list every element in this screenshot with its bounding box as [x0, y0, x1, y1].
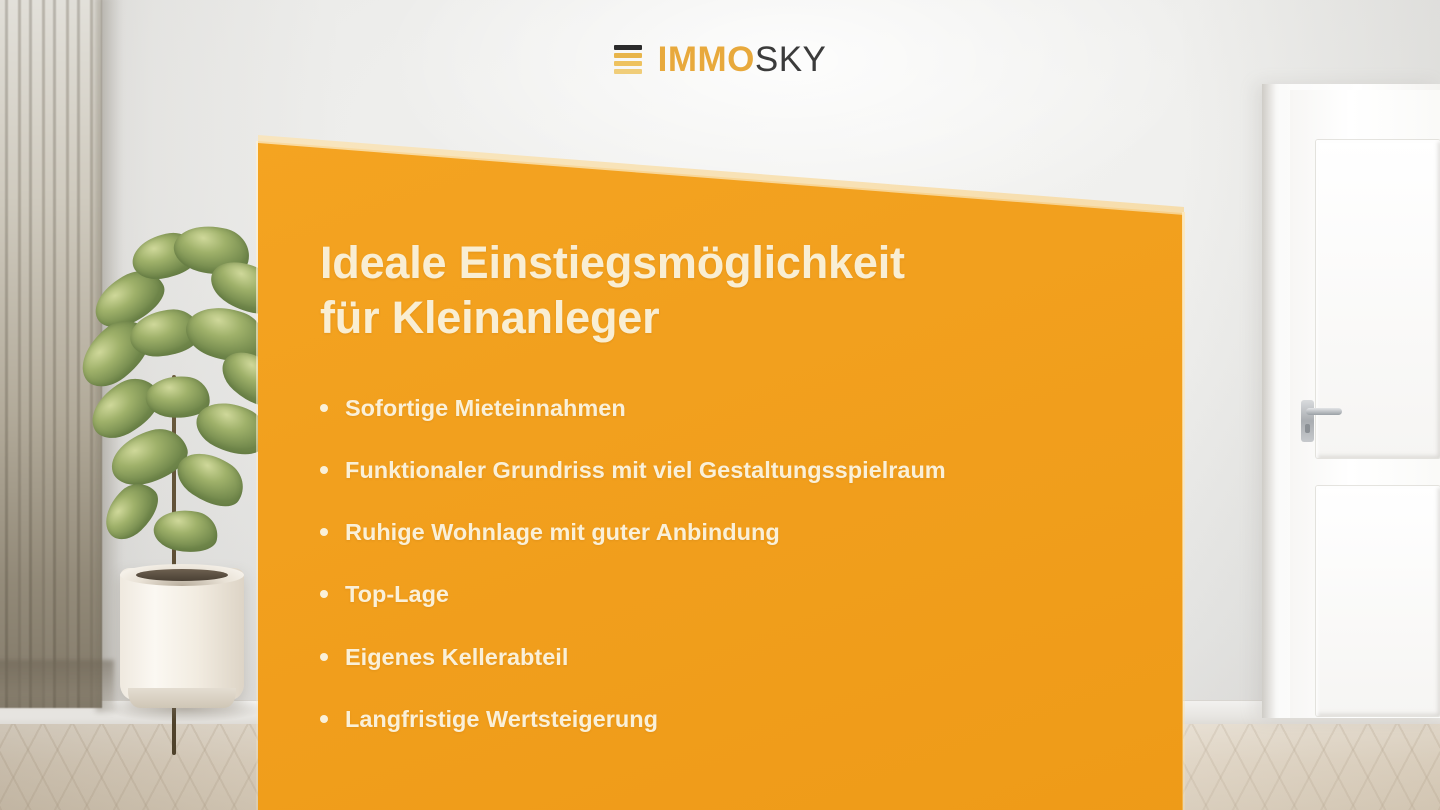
slide-canvas: IMMOSKY Ideale Einstiegsmöglichkeit für …	[0, 0, 1440, 810]
panel-content: Ideale Einstiegsmöglichkeit für Kleinanl…	[320, 236, 1160, 767]
door-handle-icon	[1306, 408, 1342, 415]
bullet-dot-icon	[320, 466, 328, 474]
benefits-list: Sofortige Mieteinnahmen Funktionaler Gru…	[320, 394, 1160, 733]
plant-leaf	[150, 504, 221, 558]
list-item: Langfristige Wertsteigerung	[320, 705, 1160, 733]
bullet-dot-icon	[320, 715, 328, 723]
door-keyhole-icon	[1305, 424, 1310, 433]
list-item-label: Top-Lage	[345, 580, 449, 608]
list-item-label: Sofortige Mieteinnahmen	[345, 394, 626, 422]
bullet-dot-icon	[320, 528, 328, 536]
list-item-label: Eigenes Kellerabteil	[345, 643, 568, 671]
list-item-label: Funktionaler Grundriss mit viel Gestaltu…	[345, 456, 946, 484]
list-item-label: Ruhige Wohnlage mit guter Anbindung	[345, 518, 780, 546]
panel-left-edge-highlight	[256, 141, 258, 810]
bullet-dot-icon	[320, 590, 328, 598]
plant-pot-base	[128, 688, 236, 708]
panel-right-edge-highlight	[1182, 212, 1185, 810]
logo-text-immo: IMMO	[658, 40, 755, 79]
bullet-dot-icon	[320, 404, 328, 412]
immosky-logo[interactable]: IMMOSKY	[0, 42, 1440, 77]
list-item: Ruhige Wohnlage mit guter Anbindung	[320, 518, 1160, 546]
list-item: Sofortige Mieteinnahmen	[320, 394, 1160, 422]
door-lower-panel	[1316, 486, 1440, 716]
immosky-wordmark: IMMOSKY	[658, 42, 827, 77]
panel-headline: Ideale Einstiegsmöglichkeit für Kleinanl…	[320, 236, 1160, 346]
list-item: Top-Lage	[320, 580, 1160, 608]
list-item: Funktionaler Grundriss mit viel Gestaltu…	[320, 456, 1160, 484]
plant-pot-soil	[136, 569, 228, 581]
bullet-dot-icon	[320, 653, 328, 661]
plant-pot	[120, 568, 244, 700]
immosky-bars-icon	[614, 45, 642, 75]
logo-text-sky: SKY	[755, 40, 827, 79]
door-jamb-shadow	[1262, 84, 1276, 718]
list-item-label: Langfristige Wertsteigerung	[345, 705, 658, 733]
list-item: Eigenes Kellerabteil	[320, 643, 1160, 671]
door-handle-plate	[1301, 400, 1314, 442]
